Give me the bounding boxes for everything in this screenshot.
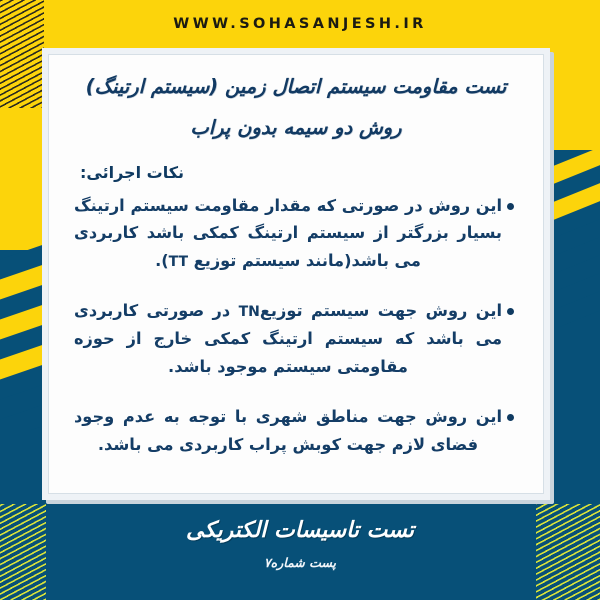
bullet-list: این روش در صورتی که مقدار مقاومت سیستم ا…: [74, 192, 518, 459]
bullet-dot-icon: [507, 308, 514, 315]
bullet-text: این روش جهت مناطق شهری با توجه به عدم وج…: [74, 403, 502, 459]
footer-title: تست تاسیسات الکتریکی: [0, 518, 600, 543]
bullet-text: این روش در صورتی که مقدار مقاومت سیستم ا…: [74, 192, 502, 276]
content-card: تست مقاومت سیستم اتصال زمین (سیستم ارتین…: [42, 48, 550, 500]
footer-subtitle: پست شماره۷: [0, 555, 600, 570]
list-item: این روش جهت سیستم توزیعTN در صورتی کاربر…: [74, 297, 518, 381]
card-title-line-2: روش دو سیمه بدون پراب: [74, 113, 518, 142]
bullet-text-after: ).: [155, 251, 169, 270]
bullet-text-before: این روش در صورتی که مقدار مقاومت سیستم ا…: [74, 196, 502, 271]
bullet-dot-icon: [507, 203, 514, 210]
bullet-inline-code: TN: [239, 304, 260, 320]
card-title-line-1: تست مقاومت سیستم اتصال زمین (سیستم ارتین…: [74, 72, 518, 101]
bullet-text-before: این روش جهت مناطق شهری با توجه به عدم وج…: [74, 407, 502, 454]
list-item: این روش جهت مناطق شهری با توجه به عدم وج…: [74, 403, 518, 459]
site-url-text: WWW.SOHASANJESH.IR: [0, 16, 600, 32]
poster-root: WWW.SOHASANJESH.IR تست مقاومت سیستم اتصا…: [0, 0, 600, 600]
notes-label: نکات اجرائی:: [74, 163, 518, 182]
bullet-text: این روش جهت سیستم توزیعTN در صورتی کاربر…: [74, 297, 502, 381]
bullet-inline-code: TT: [169, 254, 188, 270]
bullet-text-before: این روش جهت سیستم توزیع: [260, 301, 502, 320]
bullet-dot-icon: [507, 414, 514, 421]
footer: تست تاسیسات الکتریکی پست شماره۷: [0, 504, 600, 600]
list-item: این روش در صورتی که مقدار مقاومت سیستم ا…: [74, 192, 518, 276]
